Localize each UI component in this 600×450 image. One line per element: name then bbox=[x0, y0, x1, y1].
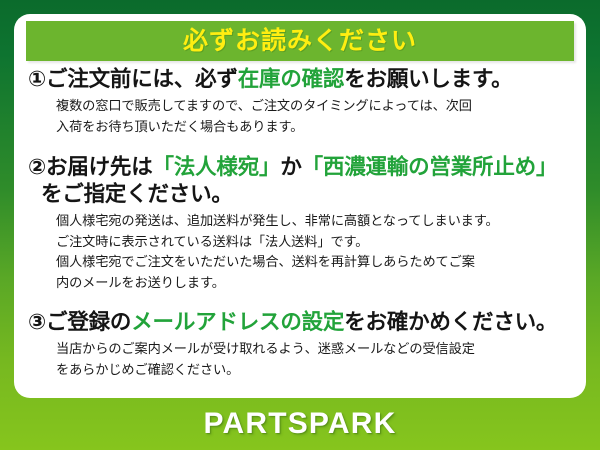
item-2-body-line-1: 個人様宅宛の発送は、追加送料が発生し、非常に高額となってしまいます。 bbox=[56, 211, 574, 232]
item-3-body-line-2: をあらかじめご確認ください。 bbox=[56, 360, 574, 381]
item-2-heading-line-2: をご指定ください。 bbox=[28, 181, 574, 208]
item-3-heading-part-3: をお確かめください。 bbox=[344, 310, 557, 334]
item-2-heading-highlight-2: 「西濃運輸の営業所止め」 bbox=[302, 155, 558, 179]
notice-item-2: ②お届け先は「法人様宛」か「西濃運輸の営業所止め」 をご指定ください。 個人様宅… bbox=[14, 154, 586, 294]
spacer-1 bbox=[14, 137, 586, 154]
item-3-heading-highlight: メールアドレスの設定 bbox=[131, 310, 344, 334]
item-2-heading-part-1: お届け先は bbox=[46, 155, 153, 179]
item-1-heading-part-1: ご注文前には、必ず bbox=[46, 67, 238, 91]
item-2-heading-part-3: か bbox=[280, 155, 301, 179]
item-1-marker: ① bbox=[28, 66, 46, 93]
notice-item-3: ③ご登録のメールアドレスの設定をお確かめください。 当店からのご案内メールが受け… bbox=[14, 309, 586, 380]
notice-item-1: ①ご注文前には、必ず在庫の確認をお願いします。 複数の窓口で販売してますので、ご… bbox=[14, 66, 586, 137]
brand-logo-partspark: PARTSPARK bbox=[203, 409, 396, 439]
item-2-heading: ②お届け先は「法人様宛」か「西濃運輸の営業所止め」 bbox=[28, 154, 574, 181]
item-1-heading-part-3: をお願いします。 bbox=[344, 67, 512, 91]
notice-frame: 必ずお読みください ①ご注文前には、必ず在庫の確認をお願いします。 複数の窓口で… bbox=[0, 0, 600, 450]
title-banner: 必ずお読みください bbox=[26, 21, 574, 61]
item-2-body-line-2: ご注文時に表示されている送料は「法人送料」です。 bbox=[56, 232, 574, 253]
item-3-heading: ③ご登録のメールアドレスの設定をお確かめください。 bbox=[28, 309, 574, 336]
item-1-body-line-2: 入荷をお待ち頂いただく場合もあります。 bbox=[56, 117, 574, 138]
notice-card: 必ずお読みください ①ご注文前には、必ず在庫の確認をお願いします。 複数の窓口で… bbox=[14, 14, 586, 398]
item-2-body: 個人様宅宛の発送は、追加送料が発生し、非常に高額となってしまいます。 ご注文時に… bbox=[28, 211, 574, 294]
item-3-body-line-1: 当店からのご案内メールが受け取れるよう、迷惑メールなどの受信設定 bbox=[56, 339, 574, 360]
notice-content: ①ご注文前には、必ず在庫の確認をお願いします。 複数の窓口で販売してますので、ご… bbox=[14, 66, 586, 381]
item-1-heading: ①ご注文前には、必ず在庫の確認をお願いします。 bbox=[28, 66, 574, 93]
item-3-marker: ③ bbox=[28, 309, 46, 336]
item-2-heading-highlight-1: 「法人様宛」 bbox=[153, 155, 281, 179]
notice-title: 必ずお読みください bbox=[183, 29, 417, 54]
item-2-body-line-3: 個人様宅宛でご注文をいただいた場合、送料を再計算しあらためてご案 bbox=[56, 252, 574, 273]
spacer-2 bbox=[14, 294, 586, 309]
item-3-heading-part-1: ご登録の bbox=[46, 310, 131, 334]
item-2-marker: ② bbox=[28, 154, 46, 181]
item-2-body-line-4: 内のメールをお送りします。 bbox=[56, 273, 574, 294]
item-1-body: 複数の窓口で販売してますので、ご注文のタイミングによっては、次回 入荷をお待ち頂… bbox=[28, 96, 574, 138]
footer-bar: PARTSPARK bbox=[0, 398, 600, 450]
item-3-body: 当店からのご案内メールが受け取れるよう、迷惑メールなどの受信設定 をあらかじめご… bbox=[28, 339, 574, 381]
item-1-body-line-1: 複数の窓口で販売してますので、ご注文のタイミングによっては、次回 bbox=[56, 96, 574, 117]
item-1-heading-highlight: 在庫の確認 bbox=[238, 67, 345, 91]
